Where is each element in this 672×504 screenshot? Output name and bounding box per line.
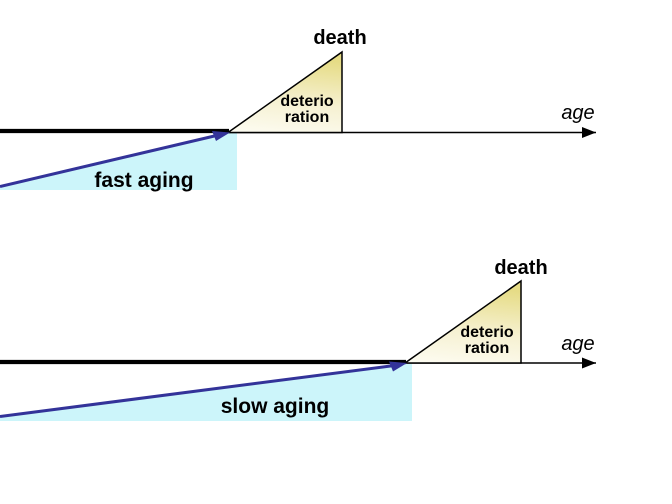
deterioration-label-line2: ration bbox=[460, 341, 513, 357]
deterioration-label-line2: ration bbox=[280, 110, 333, 126]
aging-deterioration-diagram: death deterio ration fast aging age deat… bbox=[0, 0, 672, 504]
deterioration-label-line1: deterio bbox=[280, 94, 333, 110]
diagram-canvas bbox=[0, 0, 672, 504]
deterioration-label-line1: deterio bbox=[460, 325, 513, 341]
age-axis-label-top: age bbox=[561, 103, 594, 123]
deterioration-label-top: deterio ration bbox=[280, 94, 333, 127]
fast-aging-label: fast aging bbox=[94, 170, 193, 191]
age-axis-arrowhead bbox=[582, 127, 596, 138]
age-axis-arrowhead bbox=[582, 358, 596, 369]
death-label-top: death bbox=[313, 28, 366, 48]
slow-aging-label: slow aging bbox=[221, 396, 330, 417]
age-axis-label-bottom: age bbox=[561, 334, 594, 354]
death-label-bottom: death bbox=[494, 258, 547, 278]
deterioration-label-bottom: deterio ration bbox=[460, 325, 513, 358]
